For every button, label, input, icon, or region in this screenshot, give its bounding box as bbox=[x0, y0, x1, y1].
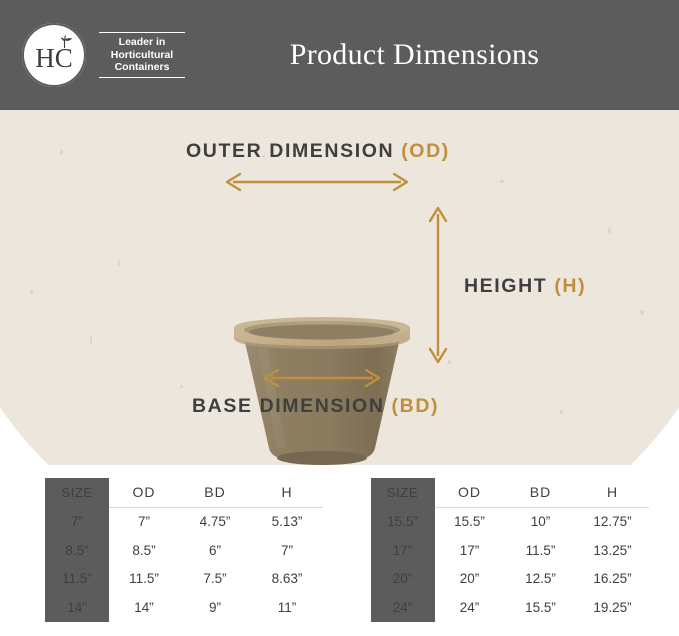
tagline-line-3: Containers bbox=[99, 61, 185, 74]
cell-bd: 7.5” bbox=[179, 565, 251, 594]
brand-tagline: Leader in Horticultural Containers bbox=[99, 29, 185, 81]
size-table-small: SIZE OD BD H 7” 7” 4.75” 5.13” 8.5” 8.5”… bbox=[45, 478, 323, 622]
cell-bd: 9” bbox=[179, 593, 251, 622]
cell-od: 15.5” bbox=[435, 507, 505, 536]
dimension-tables: SIZE OD BD H 7” 7” 4.75” 5.13” 8.5” 8.5”… bbox=[0, 470, 679, 636]
tagline-line-2: Horticultural bbox=[99, 49, 185, 62]
diagram-panel: OUTER DIMENSION (OD) bbox=[0, 110, 679, 465]
table-row: 15.5” 15.5” 10” 12.75” bbox=[371, 507, 649, 536]
cell-od: 24” bbox=[435, 593, 505, 622]
texture-speck bbox=[180, 385, 183, 388]
cell-bd: 15.5” bbox=[505, 593, 577, 622]
cell-h: 7” bbox=[251, 536, 323, 565]
tagline-rule-bottom bbox=[99, 77, 185, 78]
cell-size: 20” bbox=[371, 565, 435, 594]
texture-speck bbox=[608, 228, 611, 234]
size-table-small-wrap: SIZE OD BD H 7” 7” 4.75” 5.13” 8.5” 8.5”… bbox=[0, 470, 340, 636]
texture-speck bbox=[640, 310, 644, 315]
outer-dimension-tag: (OD) bbox=[401, 140, 450, 162]
cell-size: 11.5” bbox=[45, 565, 109, 594]
cell-size: 7” bbox=[45, 507, 109, 536]
col-header-od: OD bbox=[109, 478, 179, 507]
cell-bd: 12.5” bbox=[505, 565, 577, 594]
cell-bd: 4.75” bbox=[179, 507, 251, 536]
col-header-od: OD bbox=[435, 478, 505, 507]
cell-h: 5.13” bbox=[251, 507, 323, 536]
table-row: 24” 24” 15.5” 19.25” bbox=[371, 593, 649, 622]
texture-speck bbox=[60, 150, 63, 155]
col-header-size: SIZE bbox=[371, 478, 435, 507]
cell-size: 14” bbox=[45, 593, 109, 622]
brand-logo: HC Leader in Horticultural Containers bbox=[22, 23, 185, 87]
table-row: 20” 20” 12.5” 16.25” bbox=[371, 565, 649, 594]
base-dimension-text: BASE DIMENSION bbox=[192, 395, 385, 417]
texture-speck bbox=[90, 335, 92, 344]
cell-h: 19.25” bbox=[577, 593, 649, 622]
base-dimension-tag: (BD) bbox=[392, 395, 440, 417]
hc-logo-icon: HC bbox=[22, 23, 86, 87]
size-table-large: SIZE OD BD H 15.5” 15.5” 10” 12.75” 17” … bbox=[371, 478, 649, 622]
cell-h: 16.25” bbox=[577, 565, 649, 594]
header-bar: HC Leader in Horticultural Containers bbox=[0, 0, 679, 110]
leaf-sprout-icon bbox=[56, 34, 74, 54]
size-table-large-wrap: SIZE OD BD H 15.5” 15.5” 10” 12.75” 17” … bbox=[340, 470, 679, 636]
tagline-line-1: Leader in bbox=[99, 36, 185, 49]
col-header-size: SIZE bbox=[45, 478, 109, 507]
cell-bd: 11.5” bbox=[505, 536, 577, 565]
outer-dimension-text: OUTER DIMENSION bbox=[186, 140, 394, 162]
cell-h: 12.75” bbox=[577, 507, 649, 536]
texture-speck bbox=[560, 410, 563, 414]
height-tag: (H) bbox=[554, 275, 586, 297]
base-dimension-label: BASE DIMENSION (BD) bbox=[192, 395, 439, 418]
texture-speck bbox=[500, 180, 504, 183]
cell-size: 24” bbox=[371, 593, 435, 622]
col-header-h: H bbox=[251, 478, 323, 507]
table-row: 14” 14” 9” 11” bbox=[45, 593, 323, 622]
base-dimension-arrow-icon bbox=[262, 368, 382, 393]
height-text: HEIGHT bbox=[464, 275, 547, 297]
cell-size: 8.5” bbox=[45, 536, 109, 565]
table-row: 8.5” 8.5” 6” 7” bbox=[45, 536, 323, 565]
cell-size: 17” bbox=[371, 536, 435, 565]
texture-speck bbox=[30, 290, 33, 294]
cell-od: 8.5” bbox=[109, 536, 179, 565]
cell-od: 17” bbox=[435, 536, 505, 565]
table-row: 17” 17” 11.5” 13.25” bbox=[371, 536, 649, 565]
cell-od: 20” bbox=[435, 565, 505, 594]
cell-h: 8.63” bbox=[251, 565, 323, 594]
table-header-row: SIZE OD BD H bbox=[45, 478, 323, 507]
table-header-row: SIZE OD BD H bbox=[371, 478, 649, 507]
cell-od: 11.5” bbox=[109, 565, 179, 594]
cell-size: 15.5” bbox=[371, 507, 435, 536]
cell-h: 11” bbox=[251, 593, 323, 622]
height-arrow-icon bbox=[428, 205, 448, 370]
height-label: HEIGHT (H) bbox=[464, 275, 586, 298]
col-header-h: H bbox=[577, 478, 649, 507]
col-header-bd: BD bbox=[179, 478, 251, 507]
texture-speck bbox=[448, 360, 451, 364]
table-row: 7” 7” 4.75” 5.13” bbox=[45, 507, 323, 536]
cell-bd: 10” bbox=[505, 507, 577, 536]
cell-h: 13.25” bbox=[577, 536, 649, 565]
outer-dimension-arrow-icon bbox=[224, 172, 410, 197]
cell-od: 7” bbox=[109, 507, 179, 536]
texture-speck bbox=[118, 260, 120, 267]
cell-od: 14” bbox=[109, 593, 179, 622]
cell-bd: 6” bbox=[179, 536, 251, 565]
col-header-bd: BD bbox=[505, 478, 577, 507]
outer-dimension-label: OUTER DIMENSION (OD) bbox=[186, 140, 450, 163]
table-row: 11.5” 11.5” 7.5” 8.63” bbox=[45, 565, 323, 594]
